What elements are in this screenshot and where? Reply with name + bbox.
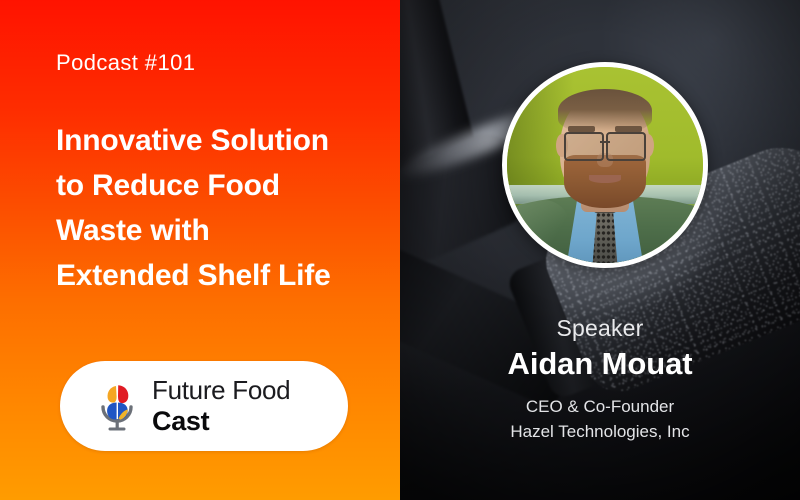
headline-line-1: Innovative Solution	[56, 118, 386, 163]
portrait-mouth	[589, 175, 620, 183]
portrait-glasses-icon	[564, 132, 646, 157]
glasses-bridge	[600, 141, 610, 143]
speaker-label: Speaker	[400, 316, 800, 341]
portrait-jacket-highlight	[503, 200, 570, 267]
speaker-company: Hazel Technologies, Inc	[400, 420, 800, 445]
glasses-lens-right	[606, 132, 646, 161]
speaker-role: CEO & Co-Founder	[400, 395, 800, 420]
brand-name-line-1: Future Food	[152, 377, 290, 403]
episode-label: Podcast #101	[56, 50, 195, 76]
podcast-promo-graphic: Podcast #101 Innovative Solution to Redu…	[0, 0, 800, 500]
headline-line-3: Waste with	[56, 208, 386, 253]
headline-line-2: to Reduce Food	[56, 163, 386, 208]
speaker-name: Aidan Mouat	[400, 347, 800, 382]
headline-line-4: Extended Shelf Life	[56, 253, 386, 298]
left-panel: Podcast #101 Innovative Solution to Redu…	[0, 0, 400, 500]
speaker-info: Speaker Aidan Mouat CEO & Co-Founder Haz…	[400, 316, 800, 444]
brand-badge[interactable]: Future Food Cast	[60, 361, 348, 451]
microphone-flower-logo-icon	[96, 380, 138, 432]
speaker-avatar	[502, 62, 708, 268]
glasses-lens-left	[564, 132, 604, 161]
headline: Innovative Solution to Reduce Food Waste…	[56, 118, 386, 298]
brand-name-line-2: Cast	[152, 408, 290, 435]
brand-wordmark: Future Food Cast	[152, 377, 290, 435]
